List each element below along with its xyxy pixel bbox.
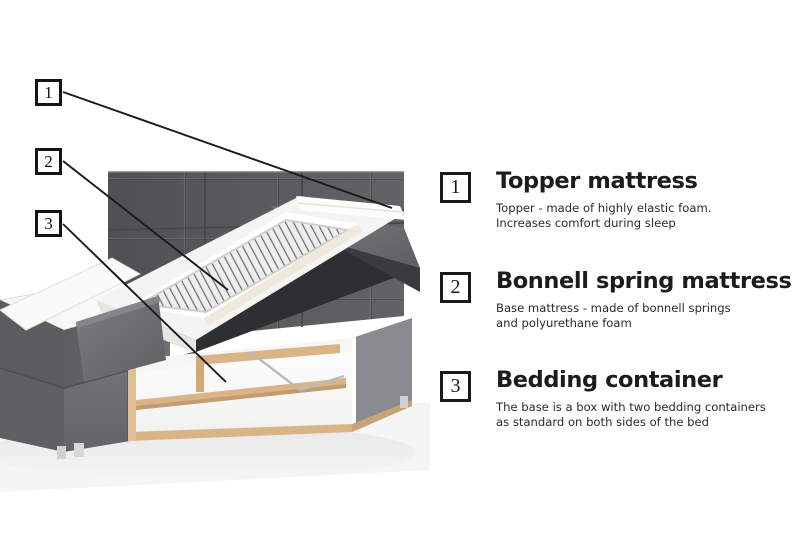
legend-item-bedding-container[interactable]: 3 Bedding container The base is a box wi…	[437, 369, 800, 430]
legend-badge-1-number: 1	[451, 177, 461, 197]
legend-item-topper-mattress[interactable]: 1 Topper mattress Topper - made of highl…	[437, 170, 800, 231]
container-left-wood-edge	[128, 360, 136, 441]
leader-badge-3[interactable]: 3	[35, 210, 62, 237]
legend-title-3: Bedding container	[496, 369, 800, 393]
legend-text-3: Bedding container The base is a box with…	[496, 369, 800, 430]
container-slat-corner	[196, 356, 204, 392]
legend-description-1: Topper - made of highly elastic foam. In…	[496, 201, 800, 232]
legend-badge-3: 3	[440, 371, 471, 402]
legend-badge-3-number: 3	[451, 376, 461, 396]
legend-list: 1 Topper mattress Topper - made of highl…	[437, 0, 800, 533]
legend-description-3: The base is a box with two bedding conta…	[496, 400, 800, 431]
legend-text-1: Topper mattress Topper - made of highly …	[496, 170, 800, 231]
bed-illustration: 1 2 3	[0, 0, 430, 533]
infographic-page: 1 2 3 1 Topper mattress Topper - made of…	[0, 0, 800, 533]
legend-text-2: Bonnell spring mattress Base mattress - …	[496, 270, 800, 331]
foot-2	[74, 443, 84, 457]
bed-illustration-svg	[0, 0, 430, 533]
leader-badge-3-number: 3	[44, 215, 53, 232]
legend-description-2: Base mattress - made of bonnell springs …	[496, 301, 800, 332]
leader-badge-2[interactable]: 2	[35, 148, 62, 175]
legend-title-2: Bonnell spring mattress	[496, 270, 800, 294]
foot-3	[400, 396, 408, 408]
leader-badge-1-number: 1	[44, 84, 53, 101]
legend-badge-2: 2	[440, 272, 471, 303]
foot-1	[57, 446, 66, 459]
container-right-panel-edge	[352, 337, 356, 432]
legend-item-bonnell-spring-mattress[interactable]: 2 Bonnell spring mattress Base mattress …	[437, 270, 800, 331]
leader-badge-2-number: 2	[44, 153, 53, 170]
legend-badge-2-number: 2	[451, 277, 461, 297]
legend-title-1: Topper mattress	[496, 170, 800, 194]
legend-badge-1: 1	[440, 172, 471, 203]
leader-badge-1[interactable]: 1	[35, 79, 62, 106]
